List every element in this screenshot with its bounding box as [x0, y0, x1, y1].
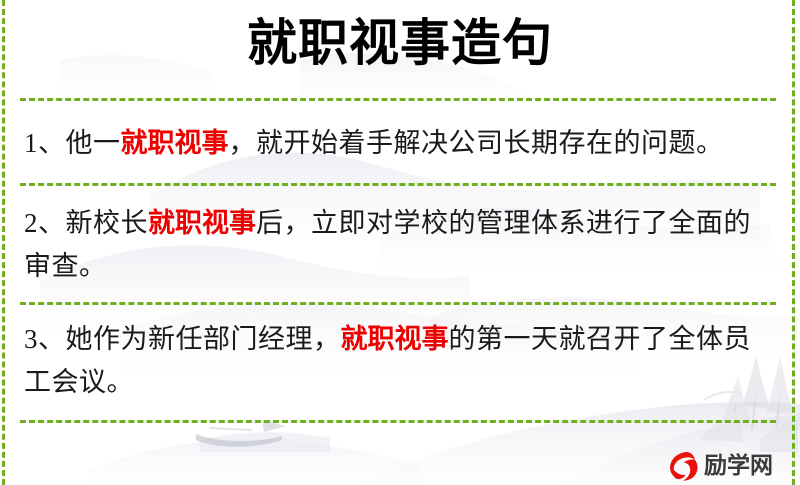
- sentence-number: 2、: [24, 208, 66, 238]
- site-logo[interactable]: 励学网: [666, 448, 773, 484]
- sentence-text-before: 他一: [66, 128, 121, 158]
- sentence-text-after: ，就开始着手解决公司长期存在的问题。: [229, 128, 724, 158]
- divider-after-sentence-3: [20, 420, 776, 423]
- example-sentence-1: 1、他一就职视事，就开始着手解决公司长期存在的问题。: [24, 122, 772, 165]
- keyword-highlight: 就职视事: [121, 128, 229, 159]
- divider-after-sentence-1: [20, 183, 776, 186]
- keyword-highlight: 就职视事: [148, 208, 256, 239]
- frame-border-left: [2, 0, 5, 485]
- example-sentence-2: 2、新校长就职视事后，立即对学校的管理体系进行了全面的审查。: [24, 202, 772, 287]
- divider-below-title: [20, 98, 776, 101]
- logo-text: 励学网: [704, 449, 773, 483]
- sentence-text-before: 她作为新任部门经理，: [66, 324, 341, 354]
- divider-after-sentence-2: [20, 302, 776, 305]
- sentence-text-before: 新校长: [66, 208, 149, 238]
- flame-swirl-icon: [666, 449, 700, 483]
- slide-page: 就职视事造句 1、他一就职视事，就开始着手解决公司长期存在的问题。 2、新校长就…: [0, 0, 800, 485]
- page-title: 就职视事造句: [0, 12, 800, 74]
- sentence-number: 1、: [24, 128, 66, 158]
- frame-border-right: [792, 0, 795, 485]
- keyword-highlight: 就职视事: [341, 324, 449, 355]
- example-sentence-3: 3、她作为新任部门经理，就职视事的第一天就召开了全体员工会议。: [24, 318, 772, 403]
- sentence-number: 3、: [24, 324, 66, 354]
- boat-watermark: [196, 420, 286, 447]
